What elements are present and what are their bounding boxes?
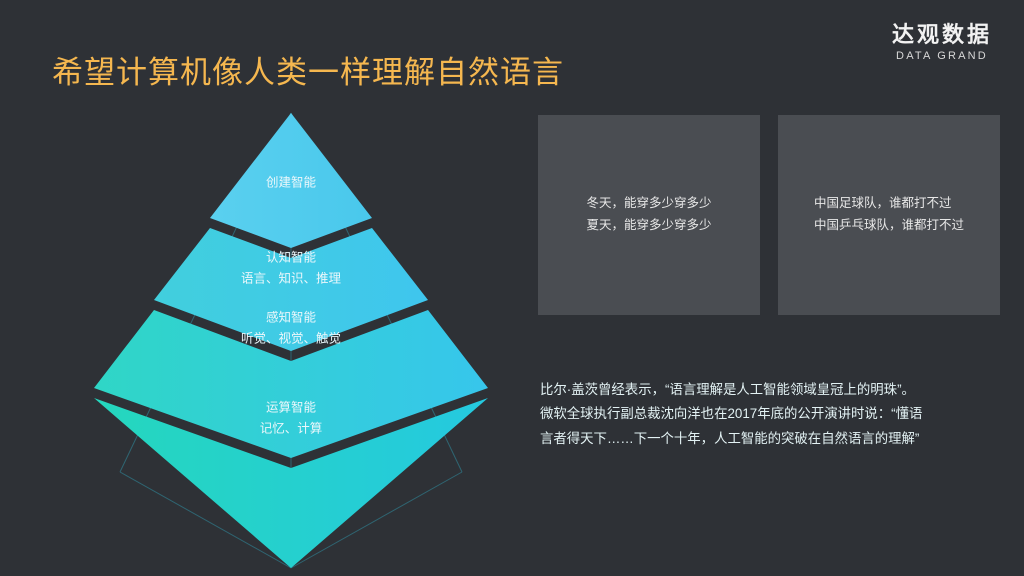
quote-line-2: 微软全球执行副总裁沈向洋也在2017年底的公开演讲时说：“懂语 <box>540 402 1010 426</box>
brand-logo: 达观数据 DATA GRAND <box>892 24 992 62</box>
pyramid-level-create[interactable]: 创建智能 <box>210 113 372 248</box>
logo-english-text: DATA GRAND <box>892 51 992 62</box>
example-card-weather-text: 冬天，能穿多少穿多少 夏天，能穿多少穿多少 <box>580 193 717 237</box>
pyramid-level-perception-label-2: 听觉、视觉、触觉 <box>241 330 341 345</box>
pyramid-level-compute-label-2: 记忆、计算 <box>260 420 323 435</box>
quote-line-1: 比尔·盖茨曾经表示，“语言理解是人工智能领域皇冠上的明珠”。 <box>540 378 1010 402</box>
pyramid-level-cognitive-label-1: 认知智能 <box>266 249 317 264</box>
slide-root: 希望计算机像人类一样理解自然语言 达观数据 DATA GRAND <box>0 0 1024 576</box>
quote-line-3: 言者得天下……下一个十年，人工智能的突破在自然语言的理解” <box>540 427 1010 451</box>
logo-chinese-text: 达观数据 <box>892 24 992 46</box>
example-card-sports[interactable]: 中国足球队，谁都打不过 中国乒乓球队，谁都打不过 <box>778 115 1000 315</box>
intelligence-pyramid-diagram: 创建智能 认知智能 语言、知识、推理 感知智能 听觉、视觉、触觉 运算智能 记忆… <box>80 100 510 570</box>
pyramid-level-create-label: 创建智能 <box>266 174 317 189</box>
example-card-weather[interactable]: 冬天，能穿多少穿多少 夏天，能穿多少穿多少 <box>538 115 760 315</box>
pyramid-level-compute[interactable]: 运算智能 记忆、计算 <box>94 398 488 568</box>
pyramid-level-perception-label-1: 感知智能 <box>266 309 317 324</box>
quote-block: 比尔·盖茨曾经表示，“语言理解是人工智能领域皇冠上的明珠”。 微软全球执行副总裁… <box>540 378 1010 451</box>
pyramid-level-cognitive-label-2: 语言、知识、推理 <box>241 271 342 285</box>
pyramid-level-compute-label-1: 运算智能 <box>266 399 317 414</box>
page-title: 希望计算机像人类一样理解自然语言 <box>52 47 564 92</box>
example-card-sports-text: 中国足球队，谁都打不过 中国乒乓球队，谁都打不过 <box>808 193 970 237</box>
